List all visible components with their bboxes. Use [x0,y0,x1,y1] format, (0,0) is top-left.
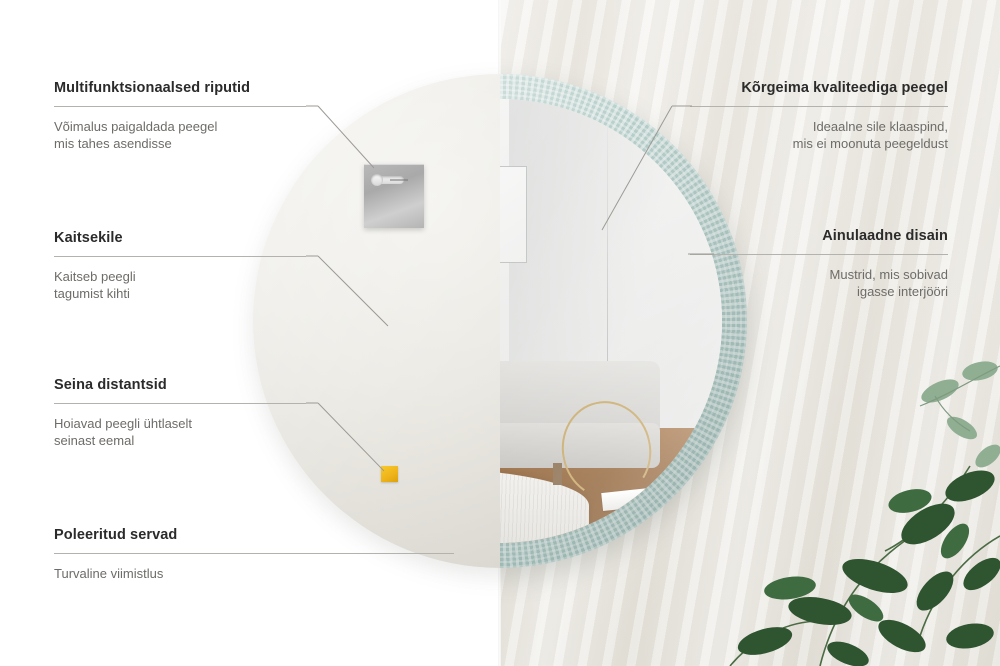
callout-desc: Mustrid, mis sobivad igasse interjööri [690,266,948,300]
callout-ainulaadne-disain: Ainulaadne disain Mustrid, mis sobivad i… [690,228,948,300]
wall-spacer-block [381,466,398,482]
callout-multifunktsionaalsed-riputid: Multifunktsionaalsed riputid Võimalus pa… [54,80,306,152]
callout-desc: Ideaalne sile klaaspind, mis ei moonuta … [690,118,948,152]
mirror-glass [500,99,722,543]
callout-rule [690,106,948,107]
callout-title: Multifunktsionaalsed riputid [54,80,306,96]
callout-seina-distantsid: Seina distantsid Hoiavad peegli ühtlasel… [54,377,306,449]
callout-kaitsekile: Kaitsekile Kaitseb peegli tagumist kihti [54,230,306,302]
callout-title: Ainulaadne disain [690,228,948,244]
callout-rule [54,403,306,404]
callout-korgeima-kvaliteediga-peegel: Kõrgeima kvaliteediga peegel Ideaalne si… [690,80,948,152]
callout-desc: Kaitseb peegli tagumist kihti [54,268,306,302]
hanger-plate [364,164,424,228]
callout-title: Seina distantsid [54,377,306,393]
callout-title: Kaitsekile [54,230,306,246]
callout-poleeritud-servad: Poleeritud servad Turvaline viimistlus [54,527,454,582]
callout-rule [690,254,948,255]
infographic-stage: Multifunktsionaalsed riputid Võimalus pa… [0,0,1000,666]
callout-desc: Turvaline viimistlus [54,565,454,582]
callout-title: Kõrgeima kvaliteediga peegel [690,80,948,96]
callout-desc: Võimalus paigaldada peegel mis tahes ase… [54,118,306,152]
callout-title: Poleeritud servad [54,527,454,543]
callout-desc: Hoiavad peegli ühtlaselt seinast eemal [54,415,306,449]
callout-rule [54,106,306,107]
slot-groove [390,179,408,181]
callout-rule [54,256,306,257]
callout-rule [54,553,454,554]
